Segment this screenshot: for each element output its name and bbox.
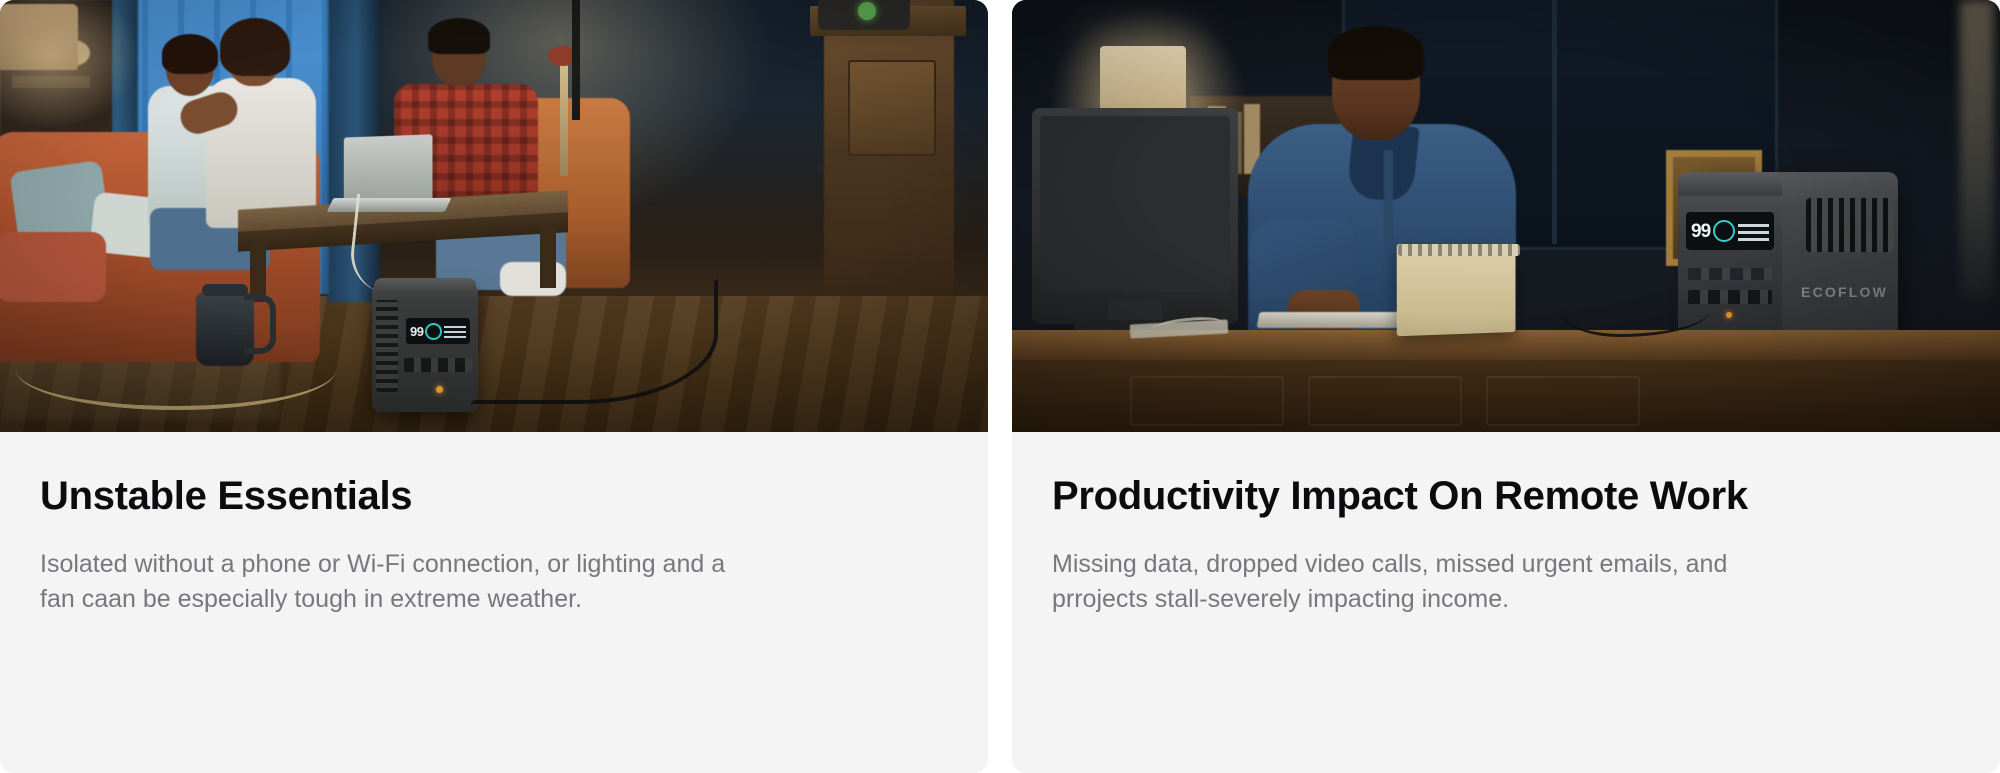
image-vignette [0,0,988,432]
card-description: Missing data, dropped video calls, misse… [1052,547,1752,618]
card-title: Unstable Essentials [40,474,948,519]
card-image-home-office: 99 ECOFLOW [1012,0,2000,432]
feature-card-productivity-impact[interactable]: 99 ECOFLOW [1012,0,2000,773]
feature-card-unstable-essentials[interactable]: 99 Unstable Essentials Isolated without … [0,0,988,773]
scene-home-office-night: 99 ECOFLOW [1012,0,2000,432]
card-text-block: Productivity Impact On Remote Work Missi… [1012,432,2000,773]
card-image-living-room: 99 [0,0,988,432]
feature-cards-row: 99 Unstable Essentials Isolated without … [0,0,2000,773]
card-text-block: Unstable Essentials Isolated without a p… [0,432,988,773]
card-description: Isolated without a phone or Wi-Fi connec… [40,547,740,618]
card-title: Productivity Impact On Remote Work [1052,474,1960,519]
scene-living-room-night: 99 [0,0,988,432]
image-vignette [1012,0,2000,432]
